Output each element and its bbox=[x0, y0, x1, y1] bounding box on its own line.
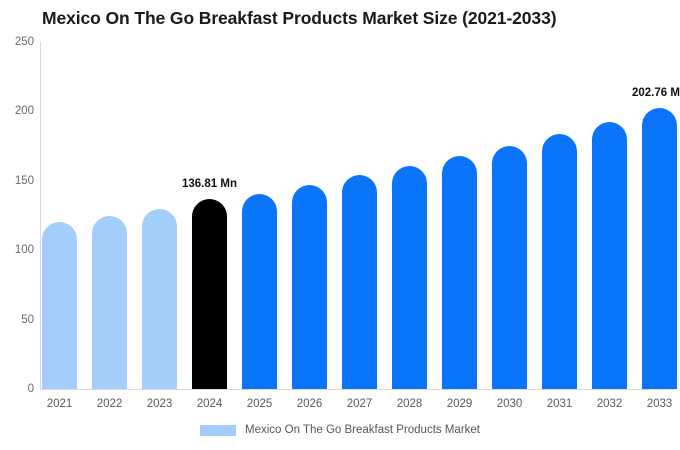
x-axis-tick-label: 2032 bbox=[592, 398, 627, 410]
bar-fill bbox=[42, 222, 77, 389]
bar[interactable] bbox=[42, 222, 77, 389]
y-axis-tick-label: 250 bbox=[0, 36, 34, 48]
bar[interactable] bbox=[292, 185, 327, 389]
bar[interactable] bbox=[192, 199, 227, 389]
bar[interactable] bbox=[92, 216, 127, 389]
x-axis-tick-label: 2028 bbox=[392, 398, 427, 410]
bar-fill bbox=[592, 122, 627, 389]
x-axis-tick-label: 2031 bbox=[542, 398, 577, 410]
y-axis-line bbox=[40, 42, 41, 389]
bar[interactable] bbox=[542, 134, 577, 389]
bar-fill bbox=[242, 194, 277, 389]
bar-fill bbox=[542, 134, 577, 389]
legend-item[interactable]: Mexico On The Go Breakfast Products Mark… bbox=[200, 424, 480, 436]
y-axis-tick-label: 0 bbox=[0, 383, 34, 395]
y-axis-tick-label: 100 bbox=[0, 244, 34, 256]
bar-value-label: 202.76 Mn bbox=[615, 87, 680, 99]
y-axis-tick-label: 200 bbox=[0, 105, 34, 117]
bar-value-label: 136.81 Mn bbox=[165, 178, 255, 190]
bar[interactable] bbox=[642, 108, 677, 389]
bar-fill bbox=[642, 108, 677, 389]
bar[interactable] bbox=[142, 209, 177, 389]
y-axis-tick-label: 150 bbox=[0, 175, 34, 187]
bar[interactable] bbox=[442, 156, 477, 389]
bar-fill bbox=[492, 146, 527, 389]
y-axis: 050100150200250 bbox=[0, 0, 34, 450]
x-axis-tick-label: 2030 bbox=[492, 398, 527, 410]
bar[interactable] bbox=[592, 122, 627, 389]
bar[interactable] bbox=[492, 146, 527, 389]
x-axis-tick-label: 2025 bbox=[242, 398, 277, 410]
plot-area: 050100150200250 202120222023202420252026… bbox=[0, 0, 680, 450]
bar-fill bbox=[342, 175, 377, 389]
legend-label: Mexico On The Go Breakfast Products Mark… bbox=[245, 424, 480, 436]
bar-fill bbox=[92, 216, 127, 389]
bar-fill bbox=[142, 209, 177, 389]
x-axis-tick-label: 2033 bbox=[642, 398, 677, 410]
x-axis-tick-label: 2023 bbox=[142, 398, 177, 410]
x-axis-tick-label: 2024 bbox=[192, 398, 227, 410]
x-axis-line bbox=[40, 389, 674, 390]
bar[interactable] bbox=[342, 175, 377, 389]
legend-swatch-icon bbox=[200, 425, 236, 436]
bar-fill bbox=[392, 166, 427, 389]
bar-fill bbox=[292, 185, 327, 389]
y-axis-tick-label: 50 bbox=[0, 314, 34, 326]
x-axis-tick-label: 2021 bbox=[42, 398, 77, 410]
bar-fill bbox=[442, 156, 477, 389]
x-axis-tick-label: 2027 bbox=[342, 398, 377, 410]
x-axis-tick-label: 2029 bbox=[442, 398, 477, 410]
chart-container: Mexico On The Go Breakfast Products Mark… bbox=[0, 0, 680, 450]
chart-legend: Mexico On The Go Breakfast Products Mark… bbox=[0, 424, 680, 436]
bar[interactable] bbox=[392, 166, 427, 389]
bar[interactable] bbox=[242, 194, 277, 389]
x-axis-tick-label: 2026 bbox=[292, 398, 327, 410]
bar-fill bbox=[192, 199, 227, 389]
x-axis-tick-label: 2022 bbox=[92, 398, 127, 410]
